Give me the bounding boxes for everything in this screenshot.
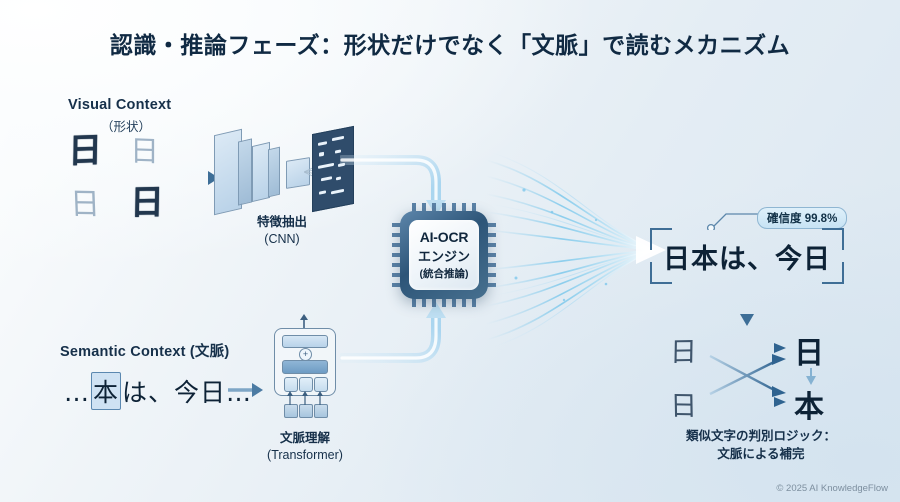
handwritten-glyph: 日 bbox=[68, 133, 103, 168]
chip-body: AI-OCR エンジン (統合推論) bbox=[400, 211, 488, 299]
engine-label-line1: AI-OCR bbox=[420, 229, 469, 245]
transformer-input-cell bbox=[314, 404, 328, 418]
engine-label-line2: エンジン bbox=[418, 246, 470, 265]
disambiguation-diagram: 日 日 日 本 bbox=[668, 330, 848, 430]
disambiguation-caption-line2: 文脈による補完 bbox=[646, 446, 876, 463]
cnn-caption-line1: 特徴抽出 bbox=[222, 214, 342, 231]
transformer-top-bar bbox=[282, 335, 328, 348]
transformer-attention-bar bbox=[282, 360, 328, 374]
arrow-sentence-to-transformer bbox=[228, 380, 266, 400]
copyright-footer: © 2025 AI KnowledgeFlow bbox=[776, 483, 888, 494]
disambiguation-caption-line1: 類似文字の判別ロジック： bbox=[646, 428, 876, 445]
transformer-input-cell bbox=[299, 404, 313, 418]
ai-ocr-engine-chip: AI-OCR エンジン (統合推論) bbox=[392, 203, 496, 307]
transformer-caption-line1: 文脈理解 bbox=[244, 430, 366, 447]
handwritten-glyph-grid: 日 日 日 日 bbox=[68, 134, 188, 238]
disambiguation-output-glyph: 本 bbox=[794, 382, 824, 426]
handwritten-glyph: 日 bbox=[69, 190, 100, 221]
sentence-prefix: … bbox=[64, 378, 90, 407]
slide-canvas: 認識・推論フェーズ：形状だけでなく「文脈」で読むメカニズム Visual Con… bbox=[0, 0, 900, 502]
chip-face: AI-OCR エンジン (統合推論) bbox=[409, 220, 479, 290]
visual-context-subheading: （形状） bbox=[101, 116, 151, 135]
page-title: 認識・推論フェーズ：形状だけでなく「文脈」で読むメカニズム bbox=[0, 26, 900, 60]
flow-pipe-semantic-to-engine bbox=[340, 300, 470, 372]
disambiguation-mapping-arrows bbox=[708, 334, 794, 418]
cnn-layer-plane bbox=[238, 138, 252, 205]
ocr-result-text: 日本は、今日 bbox=[650, 228, 844, 284]
cnn-feature-extractor-diagram bbox=[212, 126, 342, 218]
transformer-input-arrows bbox=[282, 390, 334, 406]
disambiguation-input-glyph: 日 bbox=[670, 330, 698, 369]
cnn-caption-line2: (CNN) bbox=[222, 231, 342, 248]
arrow-output-link bbox=[804, 368, 818, 386]
arrow-result-to-disambiguation bbox=[738, 290, 756, 328]
disambiguation-input-glyph: 日 bbox=[670, 384, 698, 423]
ocr-result-box: 日本は、今日 bbox=[650, 228, 844, 284]
sentence-highlighted-char: 本 bbox=[91, 372, 121, 410]
confidence-badge: 確信度 99.8% bbox=[757, 207, 847, 229]
handwritten-glyph: 日 bbox=[130, 186, 165, 221]
transformer-caption-line2: (Transformer) bbox=[244, 447, 366, 464]
visual-context-heading: Visual Context bbox=[68, 97, 171, 113]
handwritten-glyph: 日 bbox=[130, 136, 159, 166]
transformer-input-cell bbox=[284, 404, 298, 418]
callout-leader-line bbox=[700, 206, 762, 230]
semantic-sentence: …本は、今日… bbox=[64, 372, 252, 410]
cnn-layer-plane bbox=[268, 147, 280, 198]
disambiguation-output-glyph: 日 bbox=[794, 328, 824, 372]
engine-label-line3: (統合推論) bbox=[420, 266, 469, 281]
transformer-diagram: + bbox=[268, 328, 340, 422]
semantic-context-heading: Semantic Context (文脈) bbox=[60, 340, 229, 361]
